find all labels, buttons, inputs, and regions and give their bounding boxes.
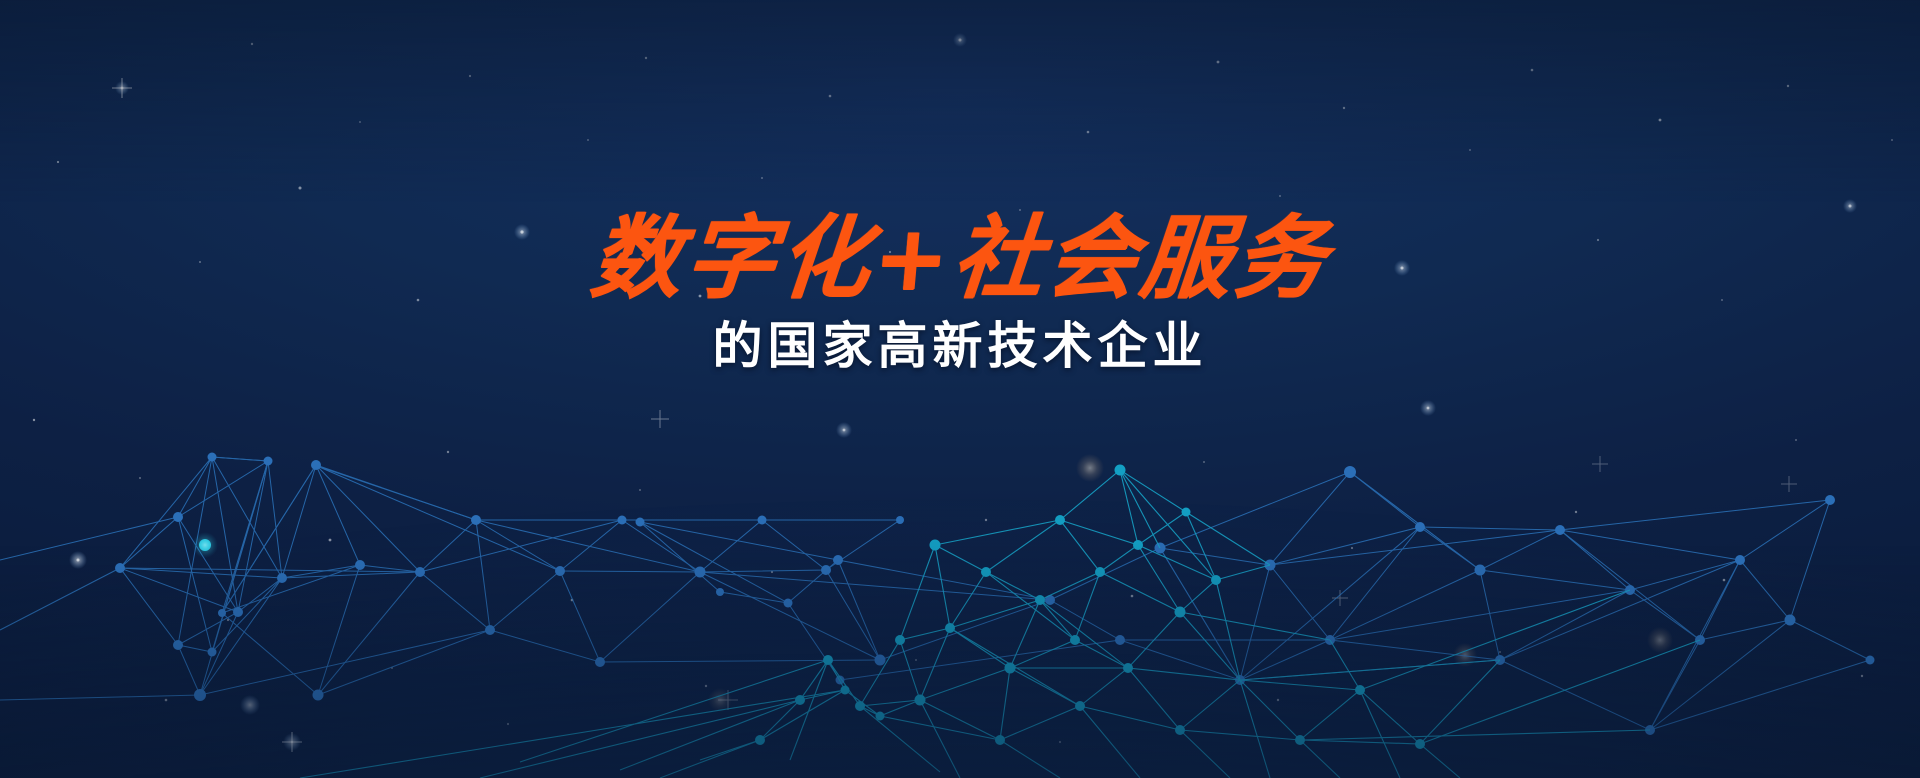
hero-banner: 数字化+社会服务 的国家高新技术企业	[0, 0, 1920, 778]
hero-text-block: 数字化+社会服务 的国家高新技术企业	[0, 214, 1920, 373]
page-title: 数字化+社会服务	[0, 214, 1920, 304]
background-vignette	[0, 0, 1920, 778]
page-subtitle: 的国家高新技术企业	[0, 318, 1920, 373]
